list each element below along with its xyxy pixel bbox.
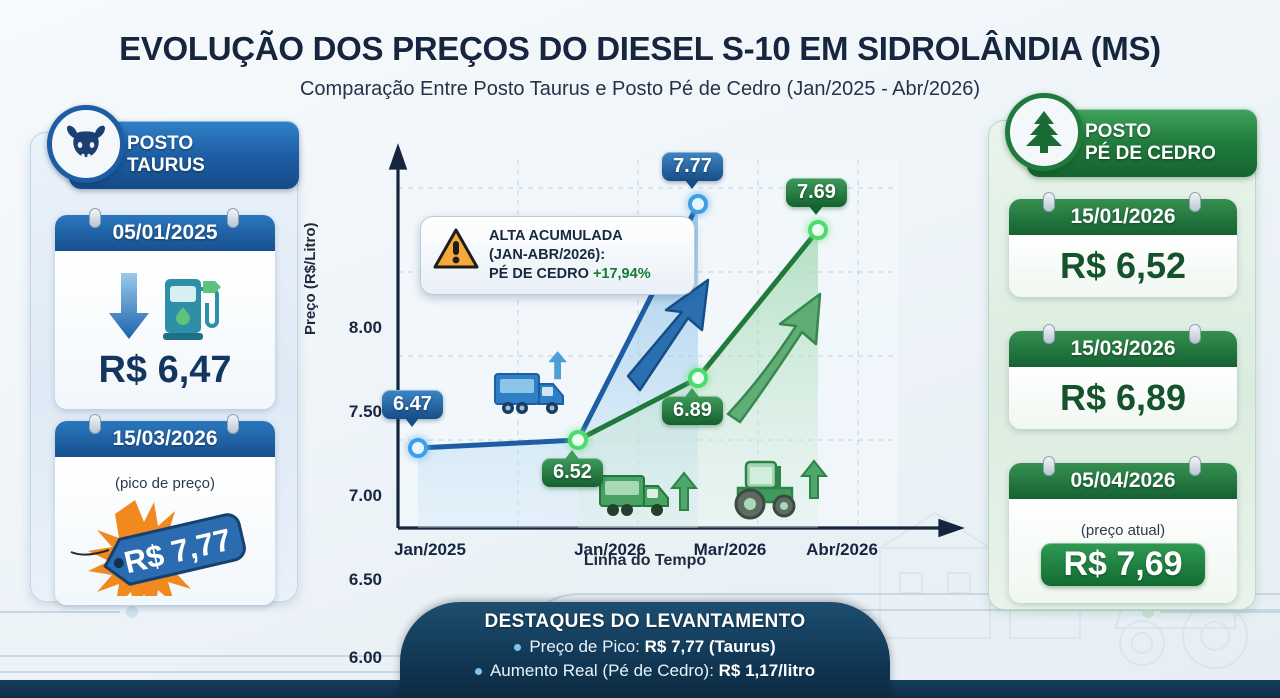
highlights-banner: DESTAQUES DO LEVANTAMENTO Preço de Pico:… xyxy=(400,602,890,698)
cedro-title: POSTO PÉ DE CEDRO xyxy=(1085,121,1216,165)
panel-posto-taurus: POSTO TAURUS 05/01/2025 xyxy=(30,132,298,602)
datalabel-taurus-mar2026: 7.77 xyxy=(662,152,723,181)
datalabel-taurus-jan2025: 6.47 xyxy=(382,390,443,419)
y-tick-6: 6.00 xyxy=(320,648,382,668)
cedro-card-1-price: R$ 6,52 xyxy=(1060,245,1186,287)
page-subtitle: Comparação Entre Posto Taurus e Posto Pé… xyxy=(0,78,1280,101)
taurus-card-2[interactable]: 15/03/2026 (pico de preço) R$ 7,77 xyxy=(55,421,275,605)
fuel-pump-icon xyxy=(107,269,223,343)
annotation-alta-acumulada: ALTA ACUMULADA (JAN-ABR/2026): PÉ DE CED… xyxy=(420,216,695,295)
chart-plot xyxy=(310,140,980,560)
price-chart: Preço (R$/Litro) Linha do Tempo 8.00 7.5… xyxy=(310,140,980,590)
taurus-card-1-price: R$ 6,47 xyxy=(98,349,231,392)
banner-item-2-label: Aumento Real (Pé de Cedro): xyxy=(490,661,719,680)
panel-posto-pe-de-cedro: POSTO PÉ DE CEDRO 15/01/2026 R$ 6,52 15/… xyxy=(988,120,1256,610)
page-title: EVOLUÇÃO DOS PREÇOS DO DIESEL S-10 EM SI… xyxy=(0,30,1280,68)
warning-triangle-icon xyxy=(433,227,479,271)
cedro-card-3-note: (preço atual) xyxy=(1081,522,1165,539)
taurus-card-2-date: 15/03/2026 xyxy=(55,421,275,457)
cedro-card-1[interactable]: 15/01/2026 R$ 6,52 xyxy=(1009,199,1237,297)
cedro-card-3[interactable]: 05/04/2026 (preço atual) R$ 7,69 xyxy=(1009,463,1237,603)
banner-item-2: Aumento Real (Pé de Cedro): R$ 1,17/litr… xyxy=(475,661,815,681)
cedro-card-3-price: R$ 7,69 xyxy=(1041,543,1204,586)
cedro-title-line1: POSTO xyxy=(1085,121,1151,142)
cedro-header: POSTO PÉ DE CEDRO xyxy=(1027,109,1257,177)
banner-item-1: Preço de Pico: R$ 7,77 (Taurus) xyxy=(514,637,775,657)
price-tag-burst-icon: R$ 7,77 xyxy=(65,492,265,596)
taurus-header: POSTO TAURUS xyxy=(69,121,299,189)
taurus-card-1[interactable]: 05/01/2025 xyxy=(55,215,275,409)
taurus-title-line2: TAURUS xyxy=(127,155,205,176)
taurus-title: POSTO TAURUS xyxy=(127,133,205,177)
banner-item-1-label: Preço de Pico: xyxy=(529,637,644,656)
datalabel-cedro-mar2026: 6.89 xyxy=(662,396,723,425)
annotation-percent: +17,94% xyxy=(593,266,651,282)
header: EVOLUÇÃO DOS PREÇOS DO DIESEL S-10 EM SI… xyxy=(0,30,1280,101)
datalabel-cedro-jan2026: 6.52 xyxy=(542,458,603,487)
banner-item-2-value: R$ 1,17/litro xyxy=(719,661,815,680)
bullet-icon xyxy=(475,668,482,675)
bull-head-icon xyxy=(47,105,125,183)
taurus-card-2-note: (pico de preço) xyxy=(115,475,215,492)
bullet-icon xyxy=(514,644,521,651)
taurus-card-1-date: 05/01/2025 xyxy=(55,215,275,251)
cedro-card-2-price: R$ 6,89 xyxy=(1060,377,1186,419)
pine-tree-icon xyxy=(1005,93,1083,171)
y-tick-650: 6.50 xyxy=(320,570,382,590)
banner-item-1-value: R$ 7,77 (Taurus) xyxy=(645,637,776,656)
datalabel-cedro-abr2026: 7.69 xyxy=(786,178,847,207)
cedro-card-2[interactable]: 15/03/2026 R$ 6,89 xyxy=(1009,331,1237,429)
taurus-title-line1: POSTO xyxy=(127,133,193,154)
banner-title: DESTAQUES DO LEVANTAMENTO xyxy=(484,611,805,633)
cedro-title-line2: PÉ DE CEDRO xyxy=(1085,143,1216,164)
annotation-line1: ALTA ACUMULADA xyxy=(489,228,623,244)
annotation-line3-prefix: PÉ DE CEDRO xyxy=(489,266,593,282)
annotation-line2: (JAN-ABR/2026): xyxy=(489,247,605,263)
